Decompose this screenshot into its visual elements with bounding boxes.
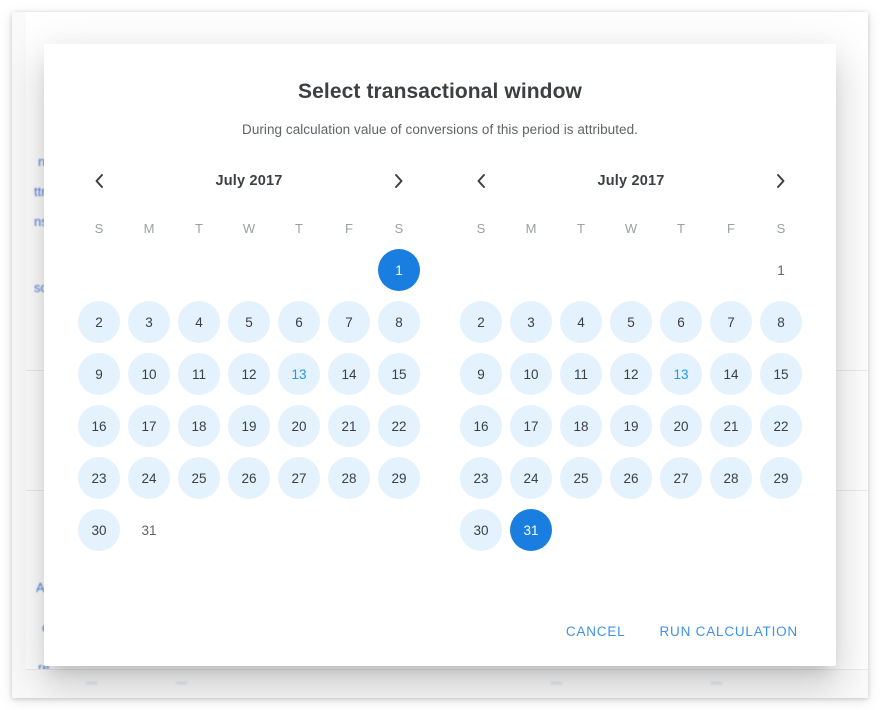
day-cell: 4 xyxy=(556,299,606,345)
day-cell xyxy=(374,507,424,553)
day-31[interactable]: 31 xyxy=(510,509,552,551)
weekday-label: T xyxy=(656,217,706,241)
calendar-week-row: 9101112131415 xyxy=(74,351,424,397)
calendar-week-row: 2345678 xyxy=(74,299,424,345)
calendar-week-row: 16171819202122 xyxy=(456,403,806,449)
day-cell: 29 xyxy=(756,455,806,501)
day-22[interactable]: 22 xyxy=(378,405,420,447)
day-cell: 26 xyxy=(224,455,274,501)
day-27[interactable]: 27 xyxy=(660,457,702,499)
day-cell: 8 xyxy=(756,299,806,345)
day-cell: 3 xyxy=(506,299,556,345)
day-cell xyxy=(656,247,706,293)
day-cell: 24 xyxy=(124,455,174,501)
weekday-label: T xyxy=(556,217,606,241)
day-cell: 18 xyxy=(556,403,606,449)
screen: ninttrinsscrASolre ———— Select transacti… xyxy=(0,0,880,710)
day-cell: 20 xyxy=(656,403,706,449)
day-cell: 29 xyxy=(374,455,424,501)
day-2[interactable]: 2 xyxy=(460,301,502,343)
day-cell: 23 xyxy=(74,455,124,501)
day-cell xyxy=(224,247,274,293)
day-16[interactable]: 16 xyxy=(78,405,120,447)
day-cell xyxy=(706,247,756,293)
day-cell xyxy=(606,507,656,553)
day-19[interactable]: 19 xyxy=(610,405,652,447)
day-cell: 16 xyxy=(456,403,506,449)
calendar-month-label: July 2017 xyxy=(112,173,386,189)
day-cell: 20 xyxy=(274,403,324,449)
weekday-label: M xyxy=(124,217,174,241)
day-24[interactable]: 24 xyxy=(128,457,170,499)
day-cell: 2 xyxy=(74,299,124,345)
run-calculation-button[interactable]: RUN CALCULATION xyxy=(647,615,810,648)
day-7[interactable]: 7 xyxy=(328,301,370,343)
weekday-label: W xyxy=(224,217,274,241)
day-21[interactable]: 21 xyxy=(328,405,370,447)
day-15[interactable]: 15 xyxy=(760,353,802,395)
day-4[interactable]: 4 xyxy=(560,301,602,343)
day-cell: 19 xyxy=(224,403,274,449)
chevron-right-icon[interactable] xyxy=(386,168,412,194)
background-bottom-link-fragment: — xyxy=(86,677,97,689)
day-cell xyxy=(224,507,274,553)
weekday-label: M xyxy=(506,217,556,241)
day-cell: 31 xyxy=(124,507,174,553)
day-cell xyxy=(274,247,324,293)
calendar-week-row: 3031 xyxy=(456,507,806,553)
day-cell: 26 xyxy=(606,455,656,501)
day-19[interactable]: 19 xyxy=(228,405,270,447)
day-cell: 14 xyxy=(706,351,756,397)
day-10[interactable]: 10 xyxy=(128,353,170,395)
day-cell: 28 xyxy=(324,455,374,501)
dialog-title: Select transactional window xyxy=(44,44,836,104)
day-5[interactable]: 5 xyxy=(610,301,652,343)
day-16[interactable]: 16 xyxy=(460,405,502,447)
day-23[interactable]: 23 xyxy=(78,457,120,499)
background-bottom-link-fragment: — xyxy=(176,677,187,689)
day-5[interactable]: 5 xyxy=(228,301,270,343)
day-cell: 13 xyxy=(274,351,324,397)
weekday-label: W xyxy=(606,217,656,241)
weekday-label: F xyxy=(324,217,374,241)
day-cell: 10 xyxy=(506,351,556,397)
day-31[interactable]: 31 xyxy=(128,509,170,551)
day-cell: 11 xyxy=(556,351,606,397)
day-cell: 18 xyxy=(174,403,224,449)
day-cell: 15 xyxy=(756,351,806,397)
day-cell: 2 xyxy=(456,299,506,345)
day-2[interactable]: 2 xyxy=(78,301,120,343)
day-29[interactable]: 29 xyxy=(760,457,802,499)
day-cell xyxy=(174,247,224,293)
day-cell xyxy=(656,507,706,553)
calendar-week-row: 3031 xyxy=(74,507,424,553)
day-3[interactable]: 3 xyxy=(128,301,170,343)
background-bottom-link-fragment: — xyxy=(551,677,562,689)
weekday-label: F xyxy=(706,217,756,241)
day-4[interactable]: 4 xyxy=(178,301,220,343)
calendar-week-row: 23242526272829 xyxy=(74,455,424,501)
day-cell: 7 xyxy=(706,299,756,345)
weekday-header-row: SMTWTFS xyxy=(74,217,424,241)
day-cell: 21 xyxy=(706,403,756,449)
day-cell: 24 xyxy=(506,455,556,501)
app-window-frame: ninttrinsscrASolre ———— Select transacti… xyxy=(12,12,868,698)
day-9[interactable]: 9 xyxy=(460,353,502,395)
calendar-week-row: 23242526272829 xyxy=(456,455,806,501)
calendar-week-row: 1 xyxy=(74,247,424,293)
day-27[interactable]: 27 xyxy=(278,457,320,499)
day-cell xyxy=(74,247,124,293)
day-cell xyxy=(324,507,374,553)
day-cell: 31 xyxy=(506,507,556,553)
day-cell: 15 xyxy=(374,351,424,397)
day-9[interactable]: 9 xyxy=(78,353,120,395)
background-bottom-link-fragment: — xyxy=(711,677,722,689)
day-cell: 12 xyxy=(606,351,656,397)
day-13[interactable]: 13 xyxy=(278,353,320,395)
day-3[interactable]: 3 xyxy=(510,301,552,343)
cancel-button[interactable]: CANCEL xyxy=(554,615,638,648)
day-10[interactable]: 10 xyxy=(510,353,552,395)
day-17[interactable]: 17 xyxy=(128,405,170,447)
chevron-left-icon[interactable] xyxy=(468,168,494,194)
day-cell: 6 xyxy=(656,299,706,345)
dialog-subtitle: During calculation value of conversions … xyxy=(44,104,836,137)
weekday-label: S xyxy=(74,217,124,241)
day-cell: 23 xyxy=(456,455,506,501)
day-cell: 14 xyxy=(324,351,374,397)
day-12[interactable]: 12 xyxy=(610,353,652,395)
day-6[interactable]: 6 xyxy=(660,301,702,343)
day-1[interactable]: 1 xyxy=(378,249,420,291)
weekday-label: S xyxy=(374,217,424,241)
chevron-left-icon[interactable] xyxy=(86,168,112,194)
day-13[interactable]: 13 xyxy=(660,353,702,395)
day-cell: 3 xyxy=(124,299,174,345)
day-29[interactable]: 29 xyxy=(378,457,420,499)
day-cell xyxy=(756,507,806,553)
day-cell: 4 xyxy=(174,299,224,345)
background-bottom-bar: ———— xyxy=(26,669,868,698)
chevron-right-icon[interactable] xyxy=(768,168,794,194)
day-cell: 16 xyxy=(74,403,124,449)
calendar-week-row: 2345678 xyxy=(456,299,806,345)
day-cell: 5 xyxy=(224,299,274,345)
day-cell xyxy=(274,507,324,553)
day-25[interactable]: 25 xyxy=(560,457,602,499)
calendar-week-row: 1 xyxy=(456,247,806,293)
day-cell xyxy=(556,507,606,553)
day-24[interactable]: 24 xyxy=(510,457,552,499)
calendar-header: July 2017 xyxy=(456,163,806,199)
day-14[interactable]: 14 xyxy=(328,353,370,395)
day-21[interactable]: 21 xyxy=(710,405,752,447)
calendar-month-label: July 2017 xyxy=(494,173,768,189)
day-28[interactable]: 28 xyxy=(710,457,752,499)
day-28[interactable]: 28 xyxy=(328,457,370,499)
day-cell: 1 xyxy=(374,247,424,293)
day-cell xyxy=(324,247,374,293)
day-cell: 22 xyxy=(374,403,424,449)
day-cell: 21 xyxy=(324,403,374,449)
day-8[interactable]: 8 xyxy=(378,301,420,343)
day-8[interactable]: 8 xyxy=(760,301,802,343)
day-22[interactable]: 22 xyxy=(760,405,802,447)
day-cell: 10 xyxy=(124,351,174,397)
weekday-label: T xyxy=(274,217,324,241)
day-cell: 7 xyxy=(324,299,374,345)
day-cell xyxy=(124,247,174,293)
day-17[interactable]: 17 xyxy=(510,405,552,447)
day-cell xyxy=(606,247,656,293)
day-cell: 30 xyxy=(74,507,124,553)
day-7[interactable]: 7 xyxy=(710,301,752,343)
day-26[interactable]: 26 xyxy=(610,457,652,499)
day-cell: 28 xyxy=(706,455,756,501)
day-cell xyxy=(456,247,506,293)
calendar-header: July 2017 xyxy=(74,163,424,199)
weekday-label: T xyxy=(174,217,224,241)
day-cell: 6 xyxy=(274,299,324,345)
day-30[interactable]: 30 xyxy=(78,509,120,551)
day-18[interactable]: 18 xyxy=(560,405,602,447)
weekday-label: S xyxy=(756,217,806,241)
day-25[interactable]: 25 xyxy=(178,457,220,499)
day-cell: 25 xyxy=(174,455,224,501)
day-cell: 8 xyxy=(374,299,424,345)
day-30[interactable]: 30 xyxy=(460,509,502,551)
day-15[interactable]: 15 xyxy=(378,353,420,395)
day-cell: 12 xyxy=(224,351,274,397)
day-cell: 22 xyxy=(756,403,806,449)
calendar-week-row: 16171819202122 xyxy=(74,403,424,449)
day-cell xyxy=(556,247,606,293)
day-11[interactable]: 11 xyxy=(560,353,602,395)
day-cell: 25 xyxy=(556,455,606,501)
day-18[interactable]: 18 xyxy=(178,405,220,447)
day-20[interactable]: 20 xyxy=(660,405,702,447)
day-cell: 5 xyxy=(606,299,656,345)
weekday-header-row: SMTWTFS xyxy=(456,217,806,241)
day-20[interactable]: 20 xyxy=(278,405,320,447)
day-cell xyxy=(506,247,556,293)
day-1[interactable]: 1 xyxy=(760,249,802,291)
day-cell: 1 xyxy=(756,247,806,293)
day-6[interactable]: 6 xyxy=(278,301,320,343)
calendar-end: July 2017SMTWTFS123456789101112131415161… xyxy=(456,163,806,553)
day-23[interactable]: 23 xyxy=(460,457,502,499)
date-range-picker: July 2017SMTWTFS123456789101112131415161… xyxy=(44,137,836,553)
day-cell: 17 xyxy=(506,403,556,449)
day-cell: 27 xyxy=(656,455,706,501)
day-11[interactable]: 11 xyxy=(178,353,220,395)
day-cell: 11 xyxy=(174,351,224,397)
day-cell: 17 xyxy=(124,403,174,449)
day-cell: 30 xyxy=(456,507,506,553)
day-cell: 9 xyxy=(456,351,506,397)
day-cell: 13 xyxy=(656,351,706,397)
calendar-start: July 2017SMTWTFS123456789101112131415161… xyxy=(74,163,424,553)
dialog-actions: CANCEL RUN CALCULATION xyxy=(554,615,810,648)
calendar-week-row: 9101112131415 xyxy=(456,351,806,397)
transactional-window-dialog: Select transactional window During calcu… xyxy=(44,44,836,666)
day-14[interactable]: 14 xyxy=(710,353,752,395)
day-cell: 19 xyxy=(606,403,656,449)
day-12[interactable]: 12 xyxy=(228,353,270,395)
day-26[interactable]: 26 xyxy=(228,457,270,499)
day-cell xyxy=(174,507,224,553)
day-cell: 27 xyxy=(274,455,324,501)
day-cell: 9 xyxy=(74,351,124,397)
day-cell xyxy=(706,507,756,553)
weekday-label: S xyxy=(456,217,506,241)
